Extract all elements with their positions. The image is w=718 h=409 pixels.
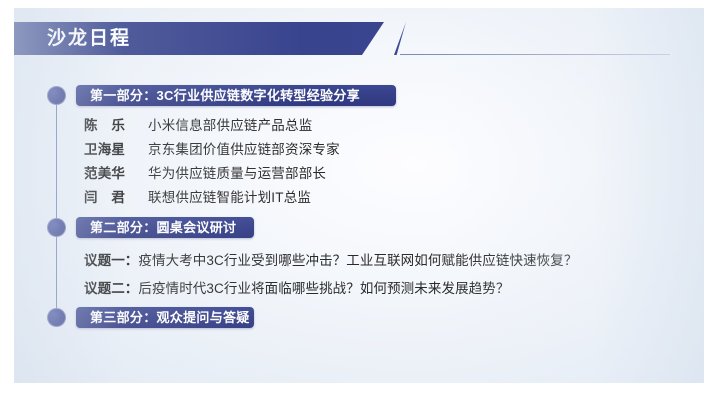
page-title: 沙龙日程 bbox=[47, 25, 131, 52]
speaker-title: 联想供应链智能计划IT总监 bbox=[148, 186, 311, 206]
topic-row: 议题一：疫情大考中3C行业受到哪些冲击？工业互联网如何赋能供应链快速恢复？ bbox=[84, 249, 577, 269]
header-divider-line bbox=[400, 54, 670, 55]
section-header-3-label: 第三部分：观众提问与答疑 bbox=[76, 307, 264, 328]
speaker-name: 卫海星 bbox=[84, 138, 148, 158]
speaker-name: 陈 乐 bbox=[84, 114, 148, 134]
timeline-bullet-3 bbox=[47, 308, 66, 327]
section-header-2: 第二部分：圆桌会议研讨 bbox=[76, 217, 254, 238]
section-header-1: 第一部分：3C行业供应链数字化转型经验分享 bbox=[76, 85, 396, 106]
header-slash-accent bbox=[394, 22, 406, 55]
speaker-title: 华为供应链质量与运营部部长 bbox=[148, 162, 326, 182]
speaker-name: 闫 君 bbox=[84, 186, 148, 206]
section-header-3: 第三部分：观众提问与答疑 bbox=[76, 307, 254, 328]
speaker-row: 范美华 华为供应链质量与运营部部长 bbox=[84, 162, 326, 182]
speaker-row: 闫 君 联想供应链智能计划IT总监 bbox=[84, 186, 311, 206]
timeline-rail bbox=[56, 94, 57, 320]
timeline-bullet-1 bbox=[47, 86, 66, 105]
slide-canvas: 沙龙日程 第一部分：3C行业供应链数字化转型经验分享 陈 乐 小米信息部供应链产… bbox=[14, 8, 704, 383]
speaker-title: 京东集团价值供应链部资深专家 bbox=[148, 138, 340, 158]
speaker-title: 小米信息部供应链产品总监 bbox=[148, 114, 312, 134]
topic-label: 议题一： bbox=[84, 253, 138, 268]
slide-header: 沙龙日程 bbox=[14, 22, 704, 56]
topic-label: 议题二： bbox=[84, 281, 138, 296]
timeline-bullet-2 bbox=[47, 218, 66, 237]
topic-text: 后疫情时代3C行业将面临哪些挑战？如何预测未来发展趋势？ bbox=[138, 281, 509, 296]
section-header-2-label: 第二部分：圆桌会议研讨 bbox=[76, 217, 250, 238]
topic-text: 疫情大考中3C行业受到哪些冲击？工业互联网如何赋能供应链快速恢复？ bbox=[138, 253, 577, 268]
speaker-row: 陈 乐 小米信息部供应链产品总监 bbox=[84, 114, 312, 134]
speaker-name: 范美华 bbox=[84, 162, 148, 182]
speaker-row: 卫海星 京东集团价值供应链部资深专家 bbox=[84, 138, 340, 158]
topic-row: 议题二：后疫情时代3C行业将面临哪些挑战？如何预测未来发展趋势？ bbox=[84, 277, 509, 297]
section-header-1-label: 第一部分：3C行业供应链数字化转型经验分享 bbox=[76, 85, 374, 106]
